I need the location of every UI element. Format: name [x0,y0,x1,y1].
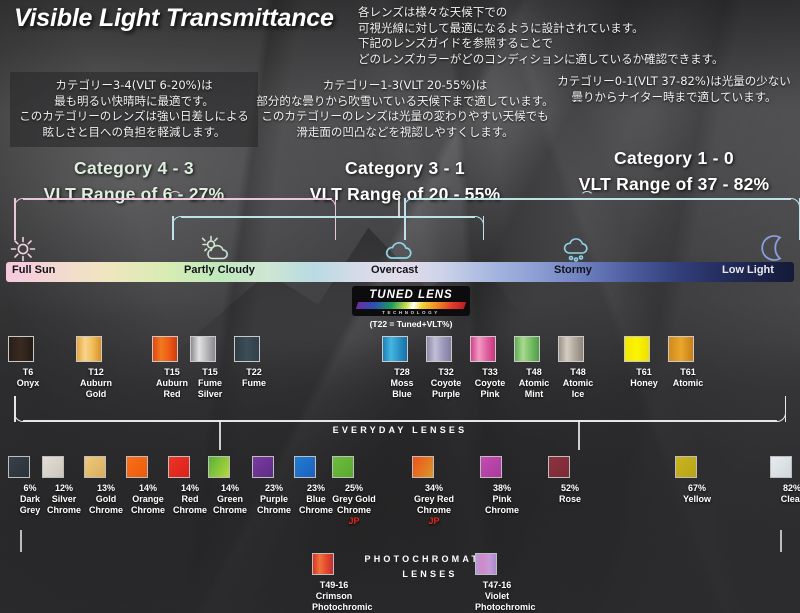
lens-color-chip[interactable] [426,336,452,362]
weather-label-stormy: Stormy [554,264,592,276]
lens-color-chip[interactable] [675,456,697,478]
weather-label-overcast: Overcast [371,264,418,276]
lens-color-chip[interactable] [624,336,650,362]
tuned-lens-item-t48-8[interactable]: T48 Atomic Mint [514,336,554,400]
lens-color-chip[interactable] [8,336,34,362]
lens-color-chip[interactable] [548,456,570,478]
photochromatic-lens-item-1[interactable]: T47-16 Violet Photochromic [475,553,519,613]
bracket-side-right [785,396,787,422]
category-block-4-3: カテゴリー3-4(VLT 6-20%)は 最も明るい快晴時に最適です。 このカテ… [10,72,258,205]
photochromatic-lens-item-0[interactable]: T49-16 Crimson Photochromic [312,553,356,613]
lens-color-chip[interactable] [770,456,792,478]
lens-caption: 25% Grey Gold ChromeJP [332,483,376,527]
lens-color-chip[interactable] [8,456,30,478]
everyday-lens-item-10[interactable]: 38% Pink Chrome [480,456,524,516]
intro-text-block: 各レンズは様々な天候下での 可視光線に対して最適になるように設計されています。 … [358,5,800,67]
everyday-lens-item-4[interactable]: 14% Red Chrome [168,456,212,516]
category-name-1-0: Category 1 - 0 [548,148,800,169]
lens-caption: 14% Green Chrome [208,483,252,516]
tuned-lens-name: TUNED LENS [352,289,470,301]
category-desc-scrim-4-3: カテゴリー3-4(VLT 6-20%)は 最も明るい快晴時に最適です。 このカテ… [10,72,258,147]
lens-color-chip[interactable] [558,336,584,362]
lens-caption: T47-16 Violet Photochromic [475,580,519,613]
tuned-lens-item-t22-4[interactable]: T22 Fume [234,336,274,389]
lens-color-chip[interactable] [668,336,694,362]
category-desc-jp-4-3: カテゴリー3-4(VLT 6-20%)は 最も明るい快晴時に最適です。 このカテ… [18,78,250,140]
everyday-lens-item-5[interactable]: 14% Green Chrome [208,456,252,516]
bracket-notch [168,191,182,199]
jp-exclusive-tag: JP [332,516,376,527]
bracket-notch [580,191,594,199]
tuned-lens-item-t15-2[interactable]: T15 Auburn Red [152,336,192,400]
weather-label-full-sun: Full Sun [12,264,55,276]
tuned-lens-item-t32-6[interactable]: T32 Coyote Purple [426,336,466,400]
tuned-lens-note: (T22 = Tuned+VLT%) [352,319,470,329]
lens-color-chip[interactable] [294,456,316,478]
lens-color-chip[interactable] [480,456,502,478]
lens-caption: T6 Onyx [8,367,48,389]
everyday-lens-item-12[interactable]: 67% Yellow [675,456,719,505]
everyday-lens-item-13[interactable]: 82% Clear [770,456,800,505]
everyday-lens-item-8[interactable]: 25% Grey Gold ChromeJP [332,456,376,527]
tuned-lens-logo: TUNED LENS TECHNOLOGY [352,286,470,316]
lens-color-chip[interactable] [475,553,497,575]
lens-caption: 12% Silver Chrome [42,483,86,516]
sun-behind-cloud-icon [198,232,232,264]
category-name-3-1: Category 3 - 1 [240,158,570,179]
jp-exclusive-tag: JP [412,516,456,527]
lens-caption: 23% Purple Chrome [252,483,296,516]
lens-caption: T61 Honey [624,367,664,389]
sun-icon [6,232,40,264]
lens-caption: 34% Grey Red ChromeJP [412,483,456,527]
connector-tick-bottom-left [20,530,22,552]
infographic-canvas: Visible Light Transmittance 各レンズは様々な天候下で… [0,0,800,613]
lens-color-chip[interactable] [332,456,354,478]
lens-color-chip[interactable] [514,336,540,362]
tuned-lens-spectrum-bar [356,302,466,309]
tuned-lens-item-t33-7[interactable]: T33 Coyote Pink [470,336,510,400]
intro-text-jp: 各レンズは様々な天候下での 可視光線に対して最適になるように設計されています。 … [358,5,800,67]
bracket-top-rail [23,421,777,423]
tuned-lens-item-t61-11[interactable]: T61 Atomic [668,336,708,389]
lens-caption: T61 Atomic [668,367,708,389]
lens-caption: 38% Pink Chrome [480,483,524,516]
page-title: Visible Light Transmittance [14,4,334,33]
lens-caption: 13% Gold Chrome [84,483,128,516]
lens-color-chip[interactable] [152,336,178,362]
moon-icon [756,232,790,264]
lens-color-chip[interactable] [470,336,496,362]
everyday-lens-item-11[interactable]: 52% Rose [548,456,592,505]
rain-cloud-icon [558,232,592,264]
bracket-top-rail [413,198,791,200]
category-name-4-3: Category 4 - 3 [10,158,258,179]
connector-tick-center-top [398,196,400,218]
tuned-lens-item-t12-1[interactable]: T12 Auburn Gold [76,336,116,400]
tuned-lens-item-t48-9[interactable]: T48 Atomic Ice [558,336,598,400]
lens-caption: 82% Clear [770,483,800,505]
lens-color-chip[interactable] [190,336,216,362]
lens-caption: T49-16 Crimson Photochromic [312,580,356,613]
everyday-lens-item-2[interactable]: 13% Gold Chrome [84,456,128,516]
tuned-lens-item-t61-10[interactable]: T61 Honey [624,336,664,389]
category-desc-scrim-3-1: カテゴリー1-3(VLT 20-55%)は 部分的な曇りから吹雪いている天候下ま… [240,72,570,147]
everyday-lens-item-9[interactable]: 34% Grey Red ChromeJP [412,456,456,527]
lens-caption: 14% Red Chrome [168,483,212,516]
everyday-lens-item-1[interactable]: 12% Silver Chrome [42,456,86,516]
lens-caption: 67% Yellow [675,483,719,505]
connector-tick-bottom-right [780,530,782,552]
lens-color-chip[interactable] [382,336,408,362]
weather-icon-row [0,232,800,264]
category-desc-scrim-1-0: カテゴリー0-1(VLT 37-82%)は光量の少ない 曇りからナイター時まで適… [548,68,800,112]
tuned-lens-technology-text: TECHNOLOGY [352,310,470,315]
category-desc-jp-3-1: カテゴリー1-3(VLT 20-55%)は 部分的な曇りから吹雪いている天候下ま… [248,78,562,140]
everyday-lens-item-6[interactable]: 23% Purple Chrome [252,456,296,516]
lens-color-chip[interactable] [234,336,260,362]
cloud-icon [381,232,415,264]
weather-label-partly-cloudy: Partly Cloudy [184,264,255,276]
lens-color-chip[interactable] [208,456,230,478]
tuned-lens-item-t15-3[interactable]: T15 Fume Silver [190,336,230,400]
lens-caption: 52% Rose [548,483,592,505]
lens-color-chip[interactable] [126,456,148,478]
lens-color-chip[interactable] [84,456,106,478]
lens-color-chip[interactable] [312,553,334,575]
weather-label-low-light: Low Light [722,264,774,276]
lens-color-chip[interactable] [252,456,274,478]
tuned-lens-item-t28-5[interactable]: T28 Moss Blue [382,336,422,400]
category-block-3-1: カテゴリー1-3(VLT 20-55%)は 部分的な曇りから吹雪いている天候下ま… [240,72,570,205]
lens-caption: T22 Fume [234,367,274,389]
bracket-everyday-lenses [14,396,786,422]
lens-caption: 14% Orange Chrome [126,483,170,516]
bracket-side-left [14,396,16,422]
lens-color-chip[interactable] [76,336,102,362]
category-desc-jp-1-0: カテゴリー0-1(VLT 37-82%)は光量の少ない 曇りからナイター時まで適… [556,74,792,105]
everyday-lens-item-3[interactable]: 14% Orange Chrome [126,456,170,516]
everyday-lenses-label: EVERYDAY LENSES [0,425,800,435]
lens-color-chip[interactable] [412,456,434,478]
lens-color-chip[interactable] [42,456,64,478]
tuned-lens-item-t6-0[interactable]: T6 Onyx [8,336,48,389]
category-block-1-0: カテゴリー0-1(VLT 37-82%)は光量の少ない 曇りからナイター時まで適… [548,68,800,195]
lens-color-chip[interactable] [168,456,190,478]
